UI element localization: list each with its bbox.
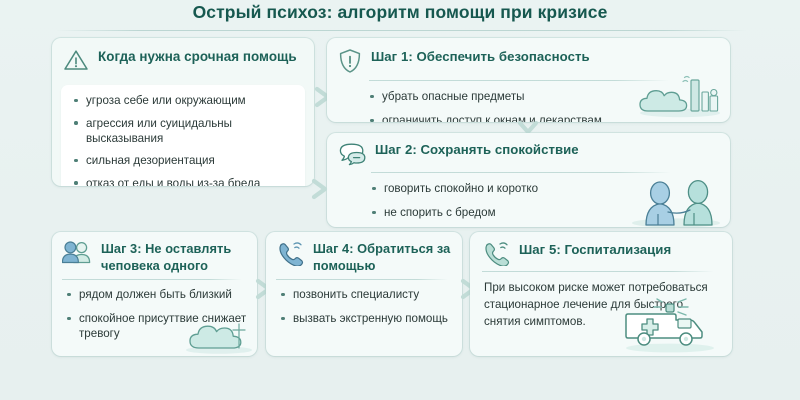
urgent-help-list: угроза себе или окружающим агрессия или … <box>71 93 295 186</box>
card-step-5[interactable]: Шаг 5: Госпитализация При высоком риске … <box>470 232 732 356</box>
list-item: говорить спокойно и коротко <box>369 181 717 196</box>
card-urgent-help-panel: угроза себе или окружающим агрессия или … <box>61 85 305 186</box>
card-step-2-header: Шаг 2: Сохранять спокойствие <box>327 133 730 172</box>
step-3-list: рядом должен быть близкий спокойное прис… <box>64 287 247 341</box>
phone-ringing-green-icon <box>482 240 510 266</box>
warning-triangle-icon <box>63 47 89 72</box>
card-urgent-help[interactable]: Когда нужна срочная помощь угроза себе и… <box>52 38 314 186</box>
list-item: сильная дезориентация <box>71 153 295 168</box>
card-urgent-help-title: Когда нужна срочная помощь <box>98 47 297 65</box>
list-item: ограничить доступ к окнам и лекарствам <box>367 113 717 122</box>
card-step-5-header: Шаг 5: Госпитализация <box>470 232 732 271</box>
list-item: вызвать экстренную помощь <box>278 311 454 326</box>
list-item: позвонить специалисту <box>278 287 454 302</box>
card-step-2-body: говорить спокойно и коротко не спорить с… <box>327 173 730 227</box>
card-step-5-title: Шаг 5: Госпитализация <box>519 240 671 258</box>
list-item: угроза себе или окружающим <box>71 93 295 108</box>
card-step-3[interactable]: Шаг 3: Не оставлять чеповека одного рядо… <box>52 232 257 356</box>
list-item: убрать опасные предметы <box>367 89 717 104</box>
list-item: отказ от еды и воды из-за бреда <box>71 176 295 186</box>
speech-bubbles-icon <box>338 140 366 166</box>
connector-step2-to-step3 <box>310 178 336 200</box>
list-item: не спорить с бредом <box>369 205 717 220</box>
card-step-2[interactable]: Шаг 2: Сохранять спокойствие говорить сп… <box>327 133 730 227</box>
card-urgent-help-header: Когда нужна срочная помощь <box>52 38 314 78</box>
card-step-4[interactable]: Шаг 4: Обратиться за помощью позвонить с… <box>266 232 462 356</box>
card-step-5-body: При высоком риске может потребоваться ст… <box>470 272 732 341</box>
two-persons-icon <box>62 240 92 265</box>
card-step-4-header: Шаг 4: Обратиться за помощью <box>266 232 462 279</box>
card-step-1-body: убрать опасные предметы ограничить досту… <box>327 81 730 122</box>
list-item: рядом должен быть близкий <box>64 287 247 302</box>
phone-ringing-icon <box>276 240 304 266</box>
card-step-1-header: Шаг 1: Обеспечить безопасность <box>327 38 730 80</box>
card-step-4-title: Шаг 4: Обратиться за помощью <box>313 240 452 274</box>
card-step-4-body: позвонить специалисту вызвать экстренную… <box>266 280 462 343</box>
title-divider <box>56 30 746 31</box>
card-step-3-body: рядом должен быть близкий спокойное прис… <box>52 280 257 356</box>
step-2-list: говорить спокойно и коротко не спорить с… <box>369 181 717 227</box>
list-item: спокойное присуттвие снижает тревогу <box>64 311 247 341</box>
card-step-2-title: Шаг 2: Сохранять спокойствие <box>375 140 579 158</box>
card-step-3-header: Шаг 3: Не оставлять чеповека одного <box>52 232 257 279</box>
step-1-list: убрать опасные предметы ограничить досту… <box>367 89 717 122</box>
card-step-1[interactable]: Шаг 1: Обеспечить безопасность убрать оп… <box>327 38 730 122</box>
card-step-3-title: Шаг 3: Не оставлять чеповека одного <box>101 240 247 274</box>
list-item: агрессия или суицидальны высказывания <box>71 116 295 146</box>
infographic-canvas: Острый психоз: алгоритм помощи при кризи… <box>0 0 800 400</box>
page-title: Острый психоз: алгоритм помощи при кризи… <box>0 2 800 23</box>
shield-exclamation-icon <box>338 47 362 74</box>
card-step-1-title: Шаг 1: Обеспечить безопасность <box>371 47 590 65</box>
step-4-list: позвонить специалисту вызвать экстренную… <box>278 287 454 326</box>
